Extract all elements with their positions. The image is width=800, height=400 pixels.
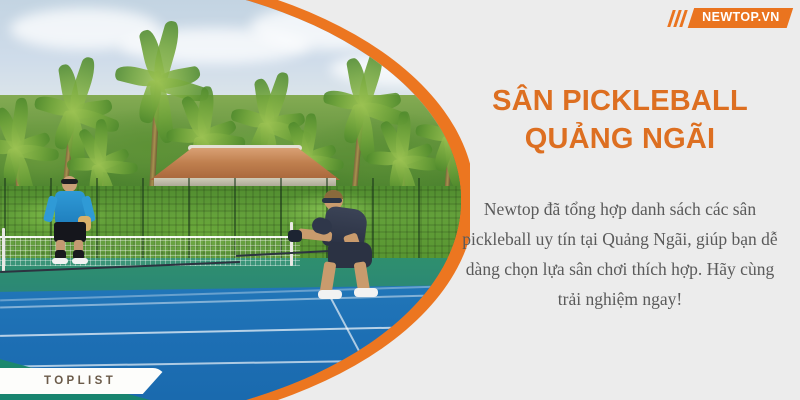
logo-text: NEWTOP.VN [702,11,779,24]
player-shorts [54,222,86,242]
net-post [290,222,293,266]
logo-plate: NEWTOP.VN [687,8,793,28]
pavilion-building [150,148,340,190]
triple-slash-icon [667,10,688,27]
player-shoe [354,288,378,297]
promo-banner: NEWTOP.VN SÂN PICKLEBALL QUẢNG NGÃI Newt… [0,0,800,400]
sunglasses-icon [322,198,342,203]
player-navy [300,190,400,306]
content-panel: NEWTOP.VN SÂN PICKLEBALL QUẢNG NGÃI Newt… [440,0,800,400]
toplist-badge: TOPLIST [0,368,166,394]
net-post [2,228,5,272]
player-shoe [72,258,88,264]
fence-post [418,178,420,266]
cloud-icon [250,4,420,50]
title-line-2: QUẢNG NGÃI [440,120,800,158]
sunglasses-icon [61,179,78,184]
paddle [288,230,302,242]
description-text: Newtop đã tổng hợp danh sách các sân pic… [460,194,780,314]
hero-photo [0,0,470,400]
page-title: SÂN PICKLEBALL QUẢNG NGÃI [440,82,800,158]
toplist-label: TOPLIST [44,375,116,387]
player-shoe [52,258,68,264]
roof [150,148,340,180]
pickleball-court-photo [0,0,461,400]
title-line-1: SÂN PICKLEBALL [492,85,748,117]
newtop-logo[interactable]: NEWTOP.VN [670,6,790,30]
photo-clip-mask [0,0,461,400]
player-shoe [318,290,342,299]
player-blue [40,176,100,262]
